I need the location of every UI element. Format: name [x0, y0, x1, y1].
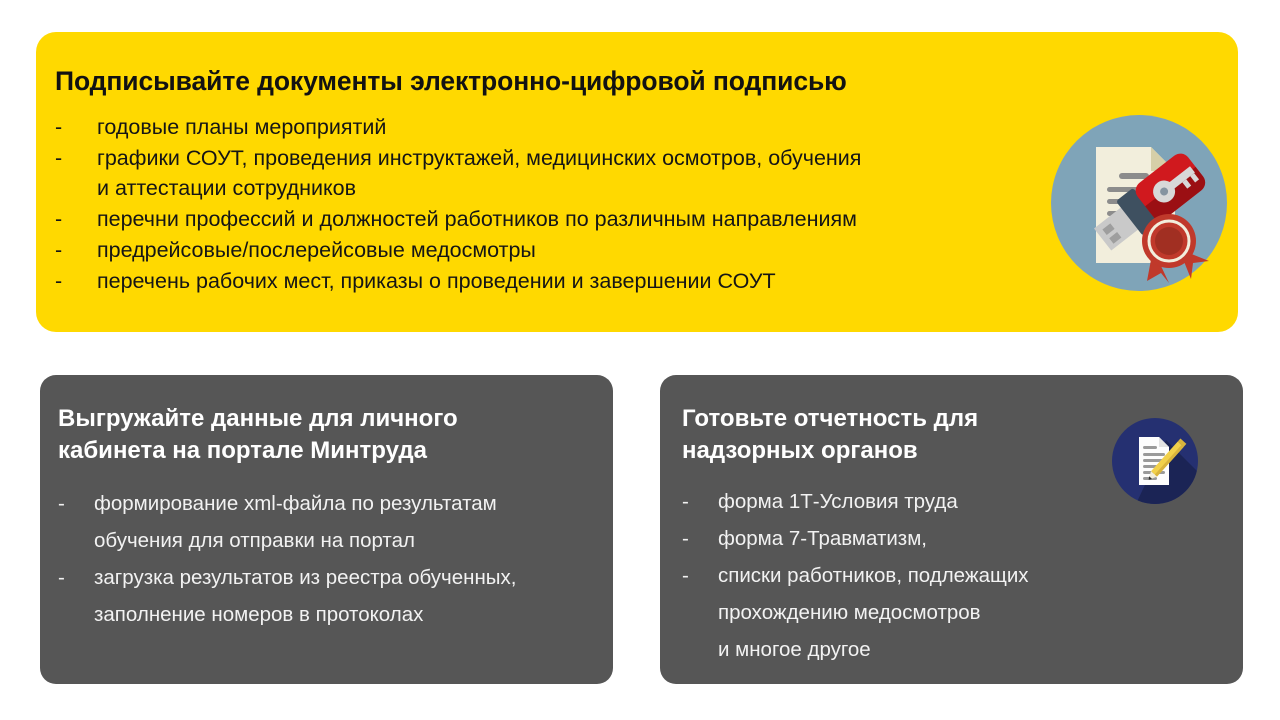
panel-reporting-bullet-list: - форма 1Т-Условия труда - форма 7-Травм… [682, 483, 1162, 668]
bullet-dash: - [682, 483, 718, 520]
list-item: - перечни профессий и должностей работни… [55, 204, 1015, 234]
bullet-text: форма 1Т-Условия труда [718, 483, 1162, 520]
panel-electronic-signature-title: Подписывайте документы электронно-цифров… [55, 66, 847, 97]
list-item: - предрейсовые/послерейсовые медосмотры [55, 235, 1015, 265]
list-item: - формирование xml-файла по результатам … [58, 485, 603, 559]
document-with-pencil-icon [1112, 418, 1198, 504]
bullet-text: загрузка результатов из реестра обученны… [94, 559, 603, 633]
list-item: - списки работников, подлежащих прохожде… [682, 557, 1162, 668]
panel-mintrud-export-title: Выгружайте данные для личного кабинета н… [58, 403, 488, 467]
bullet-line-1: форма 7-Травматизм, [718, 527, 927, 550]
bullet-line-1: годовые планы мероприятий [97, 115, 386, 139]
bullet-dash: - [55, 266, 97, 296]
bullet-line-2: и аттестации сотрудников [97, 173, 1015, 203]
bullet-line-1: перечень рабочих мест, приказы о проведе… [97, 269, 776, 293]
bullet-text: перечни профессий и должностей работнико… [97, 204, 1015, 234]
panel-title-line-2: кабинета на портале Минтруда [58, 437, 427, 464]
list-item: - годовые планы мероприятий [55, 112, 1015, 142]
bullet-text: годовые планы мероприятий [97, 112, 1015, 142]
bullet-text: форма 7-Травматизм, [718, 520, 1162, 557]
bullet-dash: - [55, 143, 97, 173]
panel-title-line-2: надзорных органов [682, 437, 918, 464]
bullet-dash: - [682, 520, 718, 557]
bullet-line-2: прохождению медосмотров [718, 594, 1162, 631]
panel-mintrud-export: Выгружайте данные для личного кабинета н… [40, 375, 613, 684]
bullet-dash: - [58, 559, 94, 596]
panel-title-line-1: Готовьте отчетность для [682, 405, 978, 432]
panel-title-line-1: Выгружайте данные для личного [58, 405, 458, 432]
bullet-line-1: предрейсовые/послерейсовые медосмотры [97, 238, 536, 262]
bullet-dash: - [55, 204, 97, 234]
signed-document-with-key-and-seal-icon [1049, 113, 1229, 293]
bullet-dash: - [58, 485, 94, 522]
list-item: - перечень рабочих мест, приказы о прове… [55, 266, 1015, 296]
bullet-line-1: форма 1Т-Условия труда [718, 490, 958, 513]
panel-reporting-title: Готовьте отчетность для надзорных органо… [682, 403, 1062, 467]
list-item: - форма 7-Травматизм, [682, 520, 1162, 557]
bullet-text: списки работников, подлежащих прохождени… [718, 557, 1162, 668]
bullet-line-2: заполнение номеров в протоколах [94, 596, 603, 633]
bullet-text: предрейсовые/послерейсовые медосмотры [97, 235, 1015, 265]
slide-canvas: Подписывайте документы электронно-цифров… [0, 0, 1280, 720]
bullet-text: графики СОУТ, проведения инструктажей, м… [97, 143, 1015, 203]
list-item: - форма 1Т-Условия труда [682, 483, 1162, 520]
bullet-line-1: загрузка результатов из реестра обученны… [94, 566, 516, 589]
panel-mintrud-export-bullet-list: - формирование xml-файла по результатам … [58, 485, 603, 633]
bullet-line-3: и многое другое [718, 631, 1162, 668]
bullet-dash: - [682, 557, 718, 594]
bullet-dash: - [55, 235, 97, 265]
list-item: - загрузка результатов из реестра обучен… [58, 559, 603, 633]
list-item: - графики СОУТ, проведения инструктажей,… [55, 143, 1015, 203]
bullet-dash: - [55, 112, 97, 142]
panel-electronic-signature: Подписывайте документы электронно-цифров… [36, 32, 1238, 332]
bullet-line-1: списки работников, подлежащих [718, 564, 1029, 587]
bullet-text: формирование xml-файла по результатам об… [94, 485, 603, 559]
bullet-line-1: формирование xml-файла по результатам [94, 492, 497, 515]
bullet-line-1: графики СОУТ, проведения инструктажей, м… [97, 146, 861, 170]
panel-electronic-signature-bullet-list: - годовые планы мероприятий - графики СО… [55, 112, 1015, 297]
bullet-line-1: перечни профессий и должностей работнико… [97, 207, 857, 231]
bullet-line-2: обучения для отправки на портал [94, 522, 603, 559]
bullet-text: перечень рабочих мест, приказы о проведе… [97, 266, 1015, 296]
